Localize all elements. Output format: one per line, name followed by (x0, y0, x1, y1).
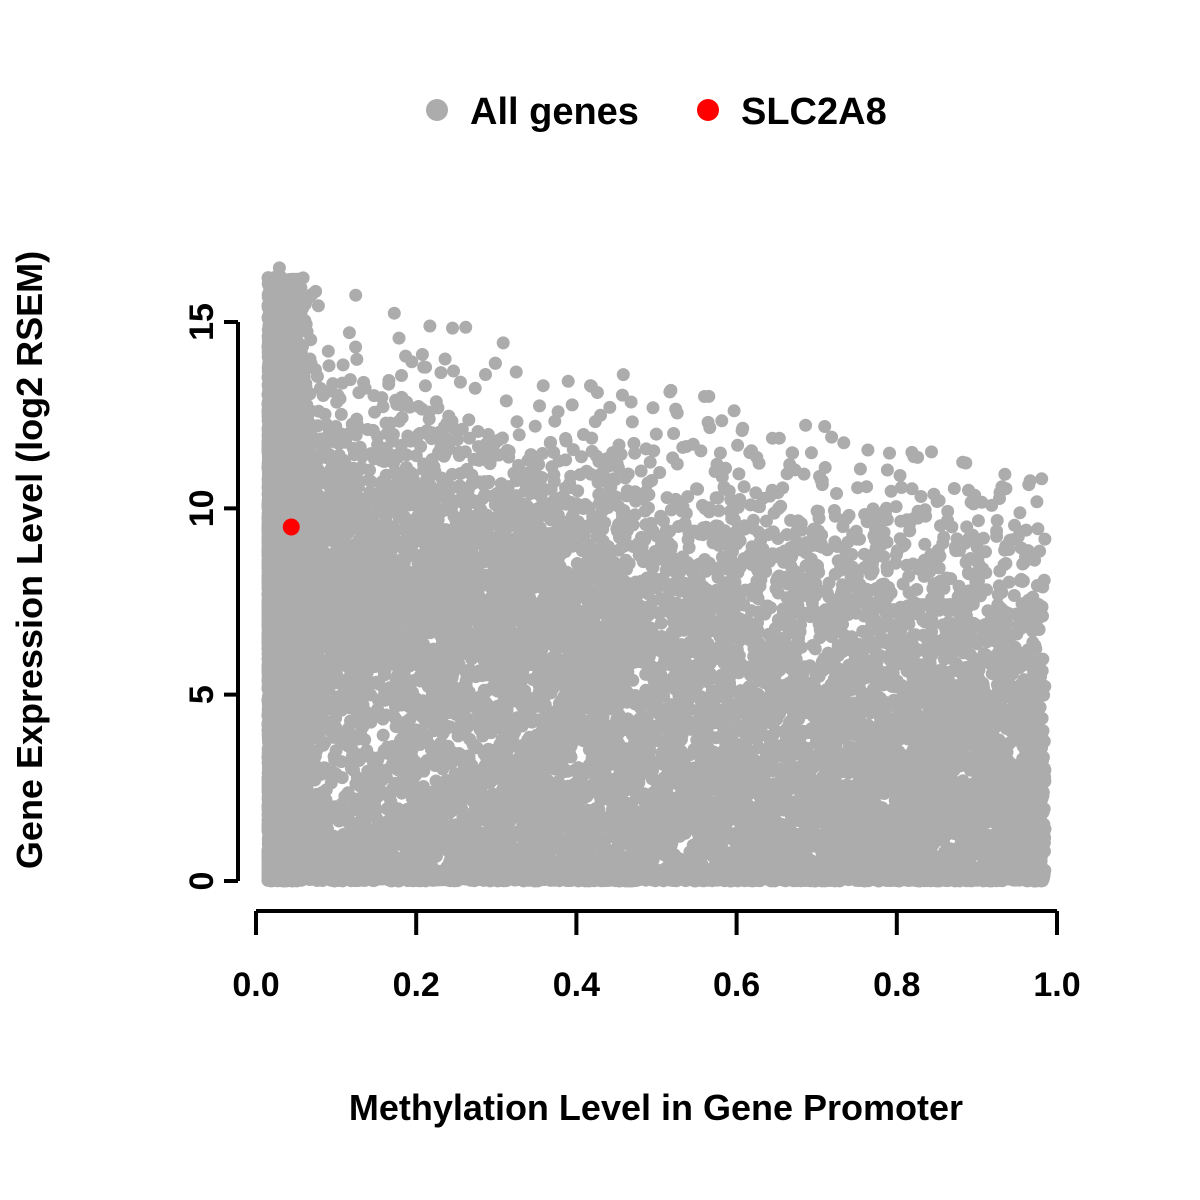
y-axis-title: Gene Expression Level (log2 RSEM) (9, 251, 50, 869)
plot-canvas: 051015 0.00.20.40.60.81.0 Methylation Le… (0, 0, 1200, 1200)
x-axis-title: Methylation Level in Gene Promoter (349, 1087, 963, 1128)
x-tick-label: 0.2 (393, 966, 440, 1004)
x-tick-label: 0.0 (232, 966, 279, 1004)
x-tick-label: 0.6 (713, 966, 760, 1004)
scatter-plot-figure: 051015 0.00.20.40.60.81.0 Methylation Le… (0, 0, 1200, 1200)
x-tick-label: 0.8 (873, 966, 920, 1004)
legend-label-all-genes: All genes (470, 91, 639, 133)
legend-label-slc2a8: SLC2A8 (741, 91, 887, 133)
highlight-point-slc2a8 (283, 518, 300, 535)
legend-marker-all-genes (426, 99, 448, 121)
y-tick-label: 10 (183, 489, 221, 527)
y-tick-label: 15 (183, 303, 221, 341)
x-tick-label: 1.0 (1033, 966, 1080, 1004)
x-tick-label: 0.4 (553, 966, 600, 1004)
highlight-point-layer (283, 518, 300, 535)
y-tick-label: 0 (183, 872, 221, 891)
y-tick-label: 5 (183, 685, 221, 704)
legend-marker-slc2a8 (697, 99, 719, 121)
